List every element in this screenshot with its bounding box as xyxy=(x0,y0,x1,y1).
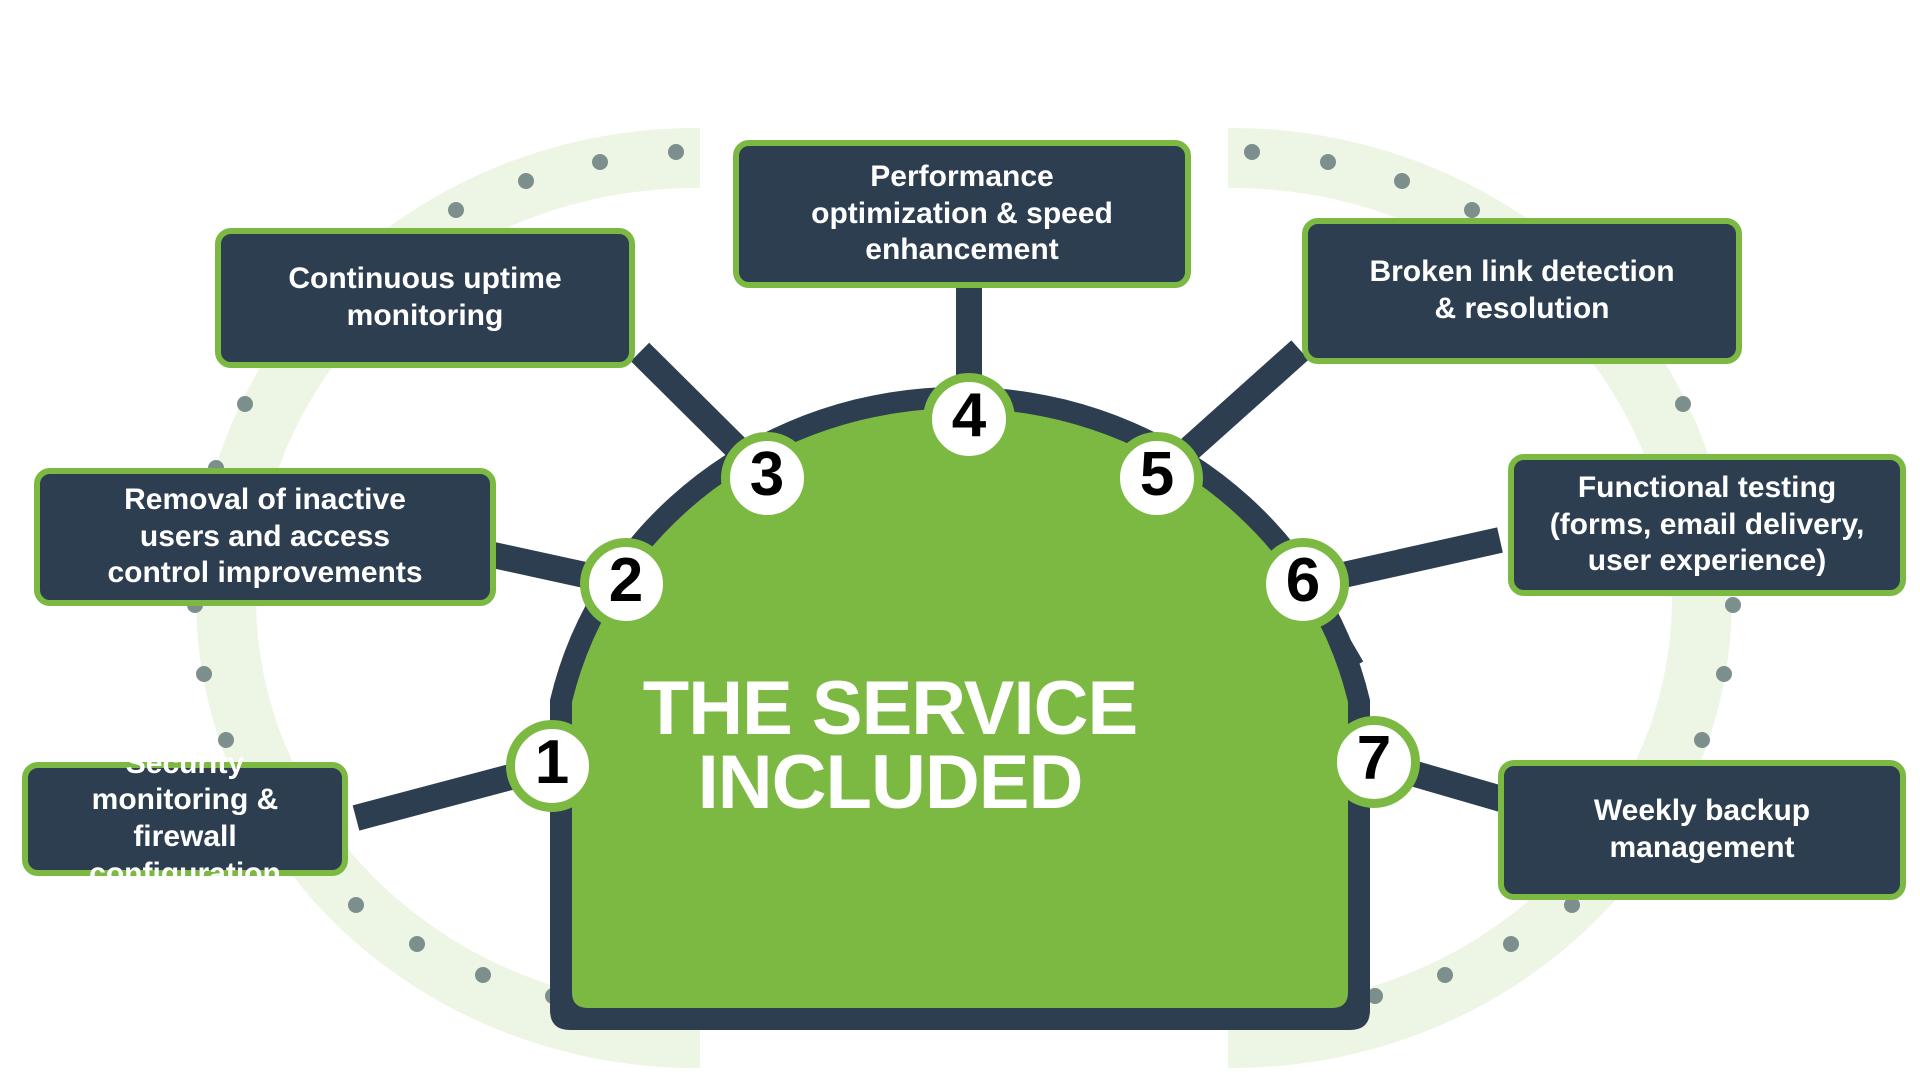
step-badge-4[interactable]: 4 xyxy=(923,373,1015,465)
node-label-3: Continuous uptime monitoring xyxy=(288,261,561,334)
step-badge-7[interactable]: 7 xyxy=(1328,716,1420,808)
node-box-2[interactable]: Removal of inactive users and access con… xyxy=(34,468,496,606)
node-box-7[interactable]: Weekly backup management xyxy=(1498,760,1906,900)
step-badge-2-number: 2 xyxy=(609,550,643,612)
step-badge-5-number: 5 xyxy=(1140,444,1174,506)
node-box-1[interactable]: Security monitoring & firewall configura… xyxy=(22,762,348,876)
node-label-4: Performance optimization & speed enhance… xyxy=(811,159,1113,269)
diagram-canvas: THE SERVICE INCLUDED Security monitoring… xyxy=(0,0,1920,1080)
center-title-line-1: THE SERVICE xyxy=(560,672,1220,746)
step-badge-7-number: 7 xyxy=(1357,728,1391,790)
step-badge-4-number: 4 xyxy=(952,385,986,447)
center-title-line-2: INCLUDED xyxy=(560,746,1220,820)
node-label-1: Security monitoring & firewall configura… xyxy=(44,746,326,892)
step-badge-3-number: 3 xyxy=(750,444,784,506)
step-badge-6[interactable]: 6 xyxy=(1257,538,1349,630)
center-title: THE SERVICE INCLUDED xyxy=(560,672,1220,821)
node-box-4[interactable]: Performance optimization & speed enhance… xyxy=(733,140,1191,288)
step-badge-6-number: 6 xyxy=(1286,550,1320,612)
node-box-6[interactable]: Functional testing (forms, email deliver… xyxy=(1508,454,1906,596)
node-box-5[interactable]: Broken link detection & resolution xyxy=(1302,218,1742,364)
step-badge-2[interactable]: 2 xyxy=(580,538,672,630)
step-badge-5[interactable]: 5 xyxy=(1111,432,1203,524)
node-label-2: Removal of inactive users and access con… xyxy=(107,482,422,592)
node-box-3[interactable]: Continuous uptime monitoring xyxy=(215,228,635,368)
node-label-5: Broken link detection & resolution xyxy=(1369,254,1674,327)
step-badge-1-number: 1 xyxy=(535,732,569,794)
step-badge-3[interactable]: 3 xyxy=(721,432,813,524)
step-badge-1[interactable]: 1 xyxy=(506,720,598,812)
node-label-6: Functional testing (forms, email deliver… xyxy=(1550,470,1865,580)
node-label-7: Weekly backup management xyxy=(1594,793,1810,866)
